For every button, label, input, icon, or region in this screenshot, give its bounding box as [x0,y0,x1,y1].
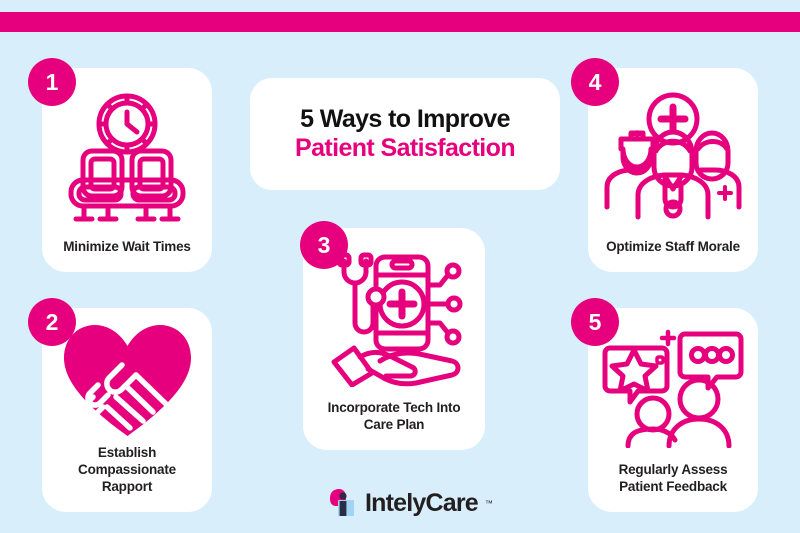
title-card: 5 Ways to Improve Patient Satisfaction [250,78,560,190]
card-label: Minimize Wait Times [42,239,212,272]
card-optimize-staff-morale[interactable]: Optimize Staff Morale [588,68,758,272]
card-number-badge: 5 [571,298,619,346]
trademark-symbol: ™ [485,499,493,508]
card-number-badge: 3 [300,221,348,269]
card-number-badge: 4 [571,58,619,106]
badge-number: 2 [46,311,59,334]
intelycare-wordmark: IntelyCare [365,491,478,516]
card-number-badge: 1 [28,58,76,106]
badge-number: 4 [589,71,602,94]
card-label: Regularly Assess Patient Feedback [588,462,758,512]
top-accent-band [0,12,800,32]
badge-number: 1 [46,71,59,94]
badge-number: 3 [318,234,331,257]
badge-number: 5 [589,311,602,334]
title-line-2: Patient Satisfaction [295,134,515,163]
card-label: Establish Compassionate Rapport [42,445,212,512]
intelycare-logo[interactable]: IntelyCare ™ [328,488,493,518]
card-label: Incorporate Tech Into Care Plan [303,400,485,450]
card-number-badge: 2 [28,298,76,346]
infographic-canvas: Minimize Wait Times 1 Esta [0,0,800,533]
card-regularly-assess-patient-feedback[interactable]: Regularly Assess Patient Feedback [588,308,758,512]
intelycare-logo-mark [328,488,358,518]
card-label: Optimize Staff Morale [588,239,758,272]
title-line-1: 5 Ways to Improve [300,105,510,134]
